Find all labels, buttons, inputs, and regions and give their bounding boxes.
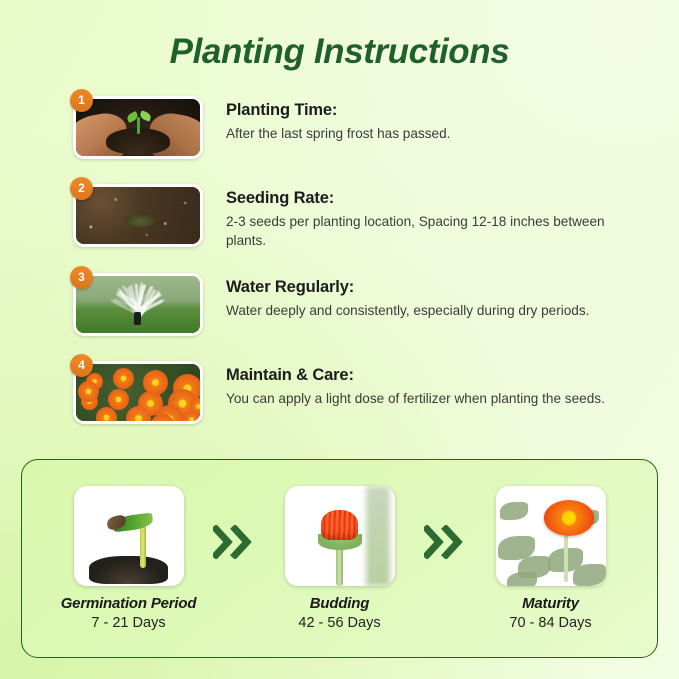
step-item-1: 1 Planting Time: After the last spring f… bbox=[70, 93, 650, 162]
growth-timeline-panel: Germination Period 7 - 21 Days Budding 4… bbox=[21, 459, 658, 658]
step-1-image bbox=[73, 96, 203, 159]
step-4-image bbox=[73, 361, 203, 424]
step-1-body: After the last spring frost has passed. bbox=[226, 124, 450, 143]
step-3-heading: Water Regularly: bbox=[226, 278, 589, 297]
planting-instructions-infographic: Planting Instructions 1 Planting Time: A… bbox=[0, 0, 679, 679]
step-3-text: Water Regularly: Water deeply and consis… bbox=[226, 270, 589, 320]
germination-stage-name: Germination Period bbox=[56, 595, 201, 612]
step-item-2: 2 Seeding Rate: 2-3 seeds per planting l… bbox=[70, 181, 650, 251]
step-2-heading: Seeding Rate: bbox=[226, 189, 641, 208]
step-2-number-badge: 2 bbox=[70, 177, 93, 200]
step-3-body: Water deeply and consistently, especiall… bbox=[226, 301, 589, 320]
maturity-stage-days: 70 - 84 Days bbox=[478, 615, 623, 631]
germination-image bbox=[74, 486, 184, 586]
step-2-body: 2-3 seeds per planting location, Spacing… bbox=[226, 212, 641, 251]
step-4-number-badge: 4 bbox=[70, 354, 93, 377]
step-4-text: Maintain & Care: You can apply a light d… bbox=[226, 358, 605, 408]
timeline-stage-maturity: Maturity 70 - 84 Days bbox=[478, 486, 623, 631]
step-4-body: You can apply a light dose of fertilizer… bbox=[226, 389, 605, 408]
step-item-3: 3 Water Regularly: Water deeply and cons… bbox=[70, 270, 650, 339]
step-1-heading: Planting Time: bbox=[226, 101, 450, 120]
budding-image bbox=[285, 486, 395, 586]
timeline-stage-budding: Budding 42 - 56 Days bbox=[267, 486, 412, 631]
double-chevron-right-icon-1 bbox=[211, 525, 257, 559]
timeline-stage-germination: Germination Period 7 - 21 Days bbox=[56, 486, 201, 631]
germination-stage-days: 7 - 21 Days bbox=[56, 615, 201, 631]
step-1-number-badge: 1 bbox=[70, 89, 93, 112]
page-title: Planting Instructions bbox=[0, 32, 679, 72]
step-item-4: 4 Maintain & Care: You can apply a light… bbox=[70, 358, 650, 427]
step-3-image bbox=[73, 273, 203, 336]
double-chevron-right-icon-2 bbox=[422, 525, 468, 559]
maturity-image bbox=[496, 486, 606, 586]
steps-list: 1 Planting Time: After the last spring f… bbox=[70, 93, 650, 446]
step-4-heading: Maintain & Care: bbox=[226, 366, 605, 385]
budding-stage-name: Budding bbox=[267, 595, 412, 612]
step-1-thumbnail-wrap: 1 bbox=[70, 93, 206, 162]
step-2-text: Seeding Rate: 2-3 seeds per planting loc… bbox=[226, 181, 641, 251]
step-4-thumbnail-wrap: 4 bbox=[70, 358, 206, 427]
maturity-stage-name: Maturity bbox=[478, 595, 623, 612]
step-3-thumbnail-wrap: 3 bbox=[70, 270, 206, 339]
budding-stage-days: 42 - 56 Days bbox=[267, 615, 412, 631]
step-3-number-badge: 3 bbox=[70, 266, 93, 289]
step-2-image bbox=[73, 184, 203, 247]
step-1-text: Planting Time: After the last spring fro… bbox=[226, 93, 450, 143]
step-2-thumbnail-wrap: 2 bbox=[70, 181, 206, 250]
